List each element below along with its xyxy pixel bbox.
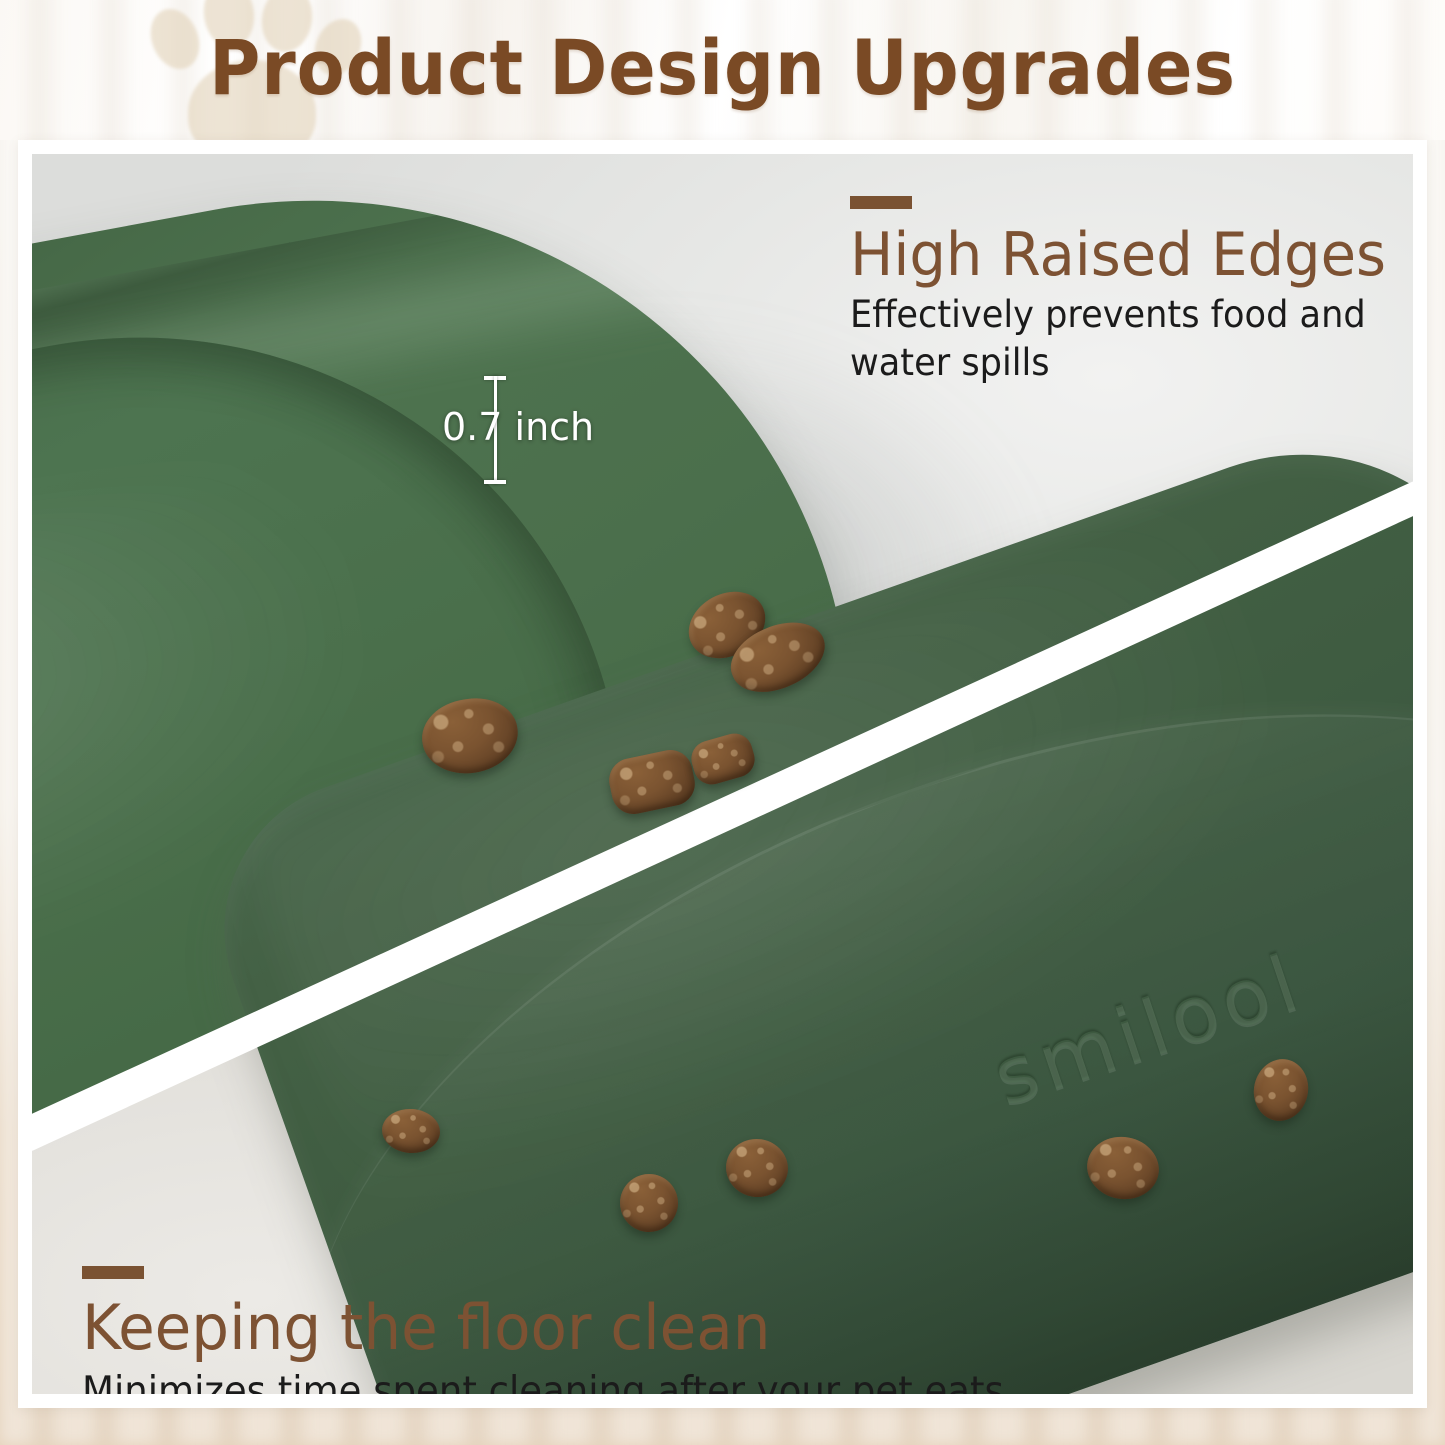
callout-subtext: Effectively prevents food and water spil… bbox=[850, 291, 1382, 387]
callout-keeping-floor-clean: Keeping the floor clean Minimizes time s… bbox=[82, 1266, 1282, 1394]
photo-collage: smilool 0.7 inch High Raised Edges Effec… bbox=[32, 154, 1413, 1394]
photo-frame: smilool 0.7 inch High Raised Edges Effec… bbox=[18, 140, 1427, 1408]
product-feature-poster: Product Design Upgrades bbox=[0, 0, 1445, 1445]
callout-rule bbox=[82, 1266, 144, 1279]
callout-subtext: Minimizes time spent cleaning after your… bbox=[82, 1367, 1222, 1394]
dimension-cap-bottom bbox=[484, 480, 506, 484]
dimension-label: 0.7 inch bbox=[442, 404, 594, 450]
page-title: Product Design Upgrades bbox=[58, 16, 1387, 120]
callout-heading: Keeping the floor clean bbox=[82, 1289, 1234, 1367]
callout-heading: High Raised Edges bbox=[850, 219, 1388, 291]
callout-rule bbox=[850, 196, 912, 209]
poster-header: Product Design Upgrades bbox=[0, 0, 1445, 140]
callout-high-raised-edges: High Raised Edges Effectively prevents f… bbox=[850, 196, 1410, 387]
